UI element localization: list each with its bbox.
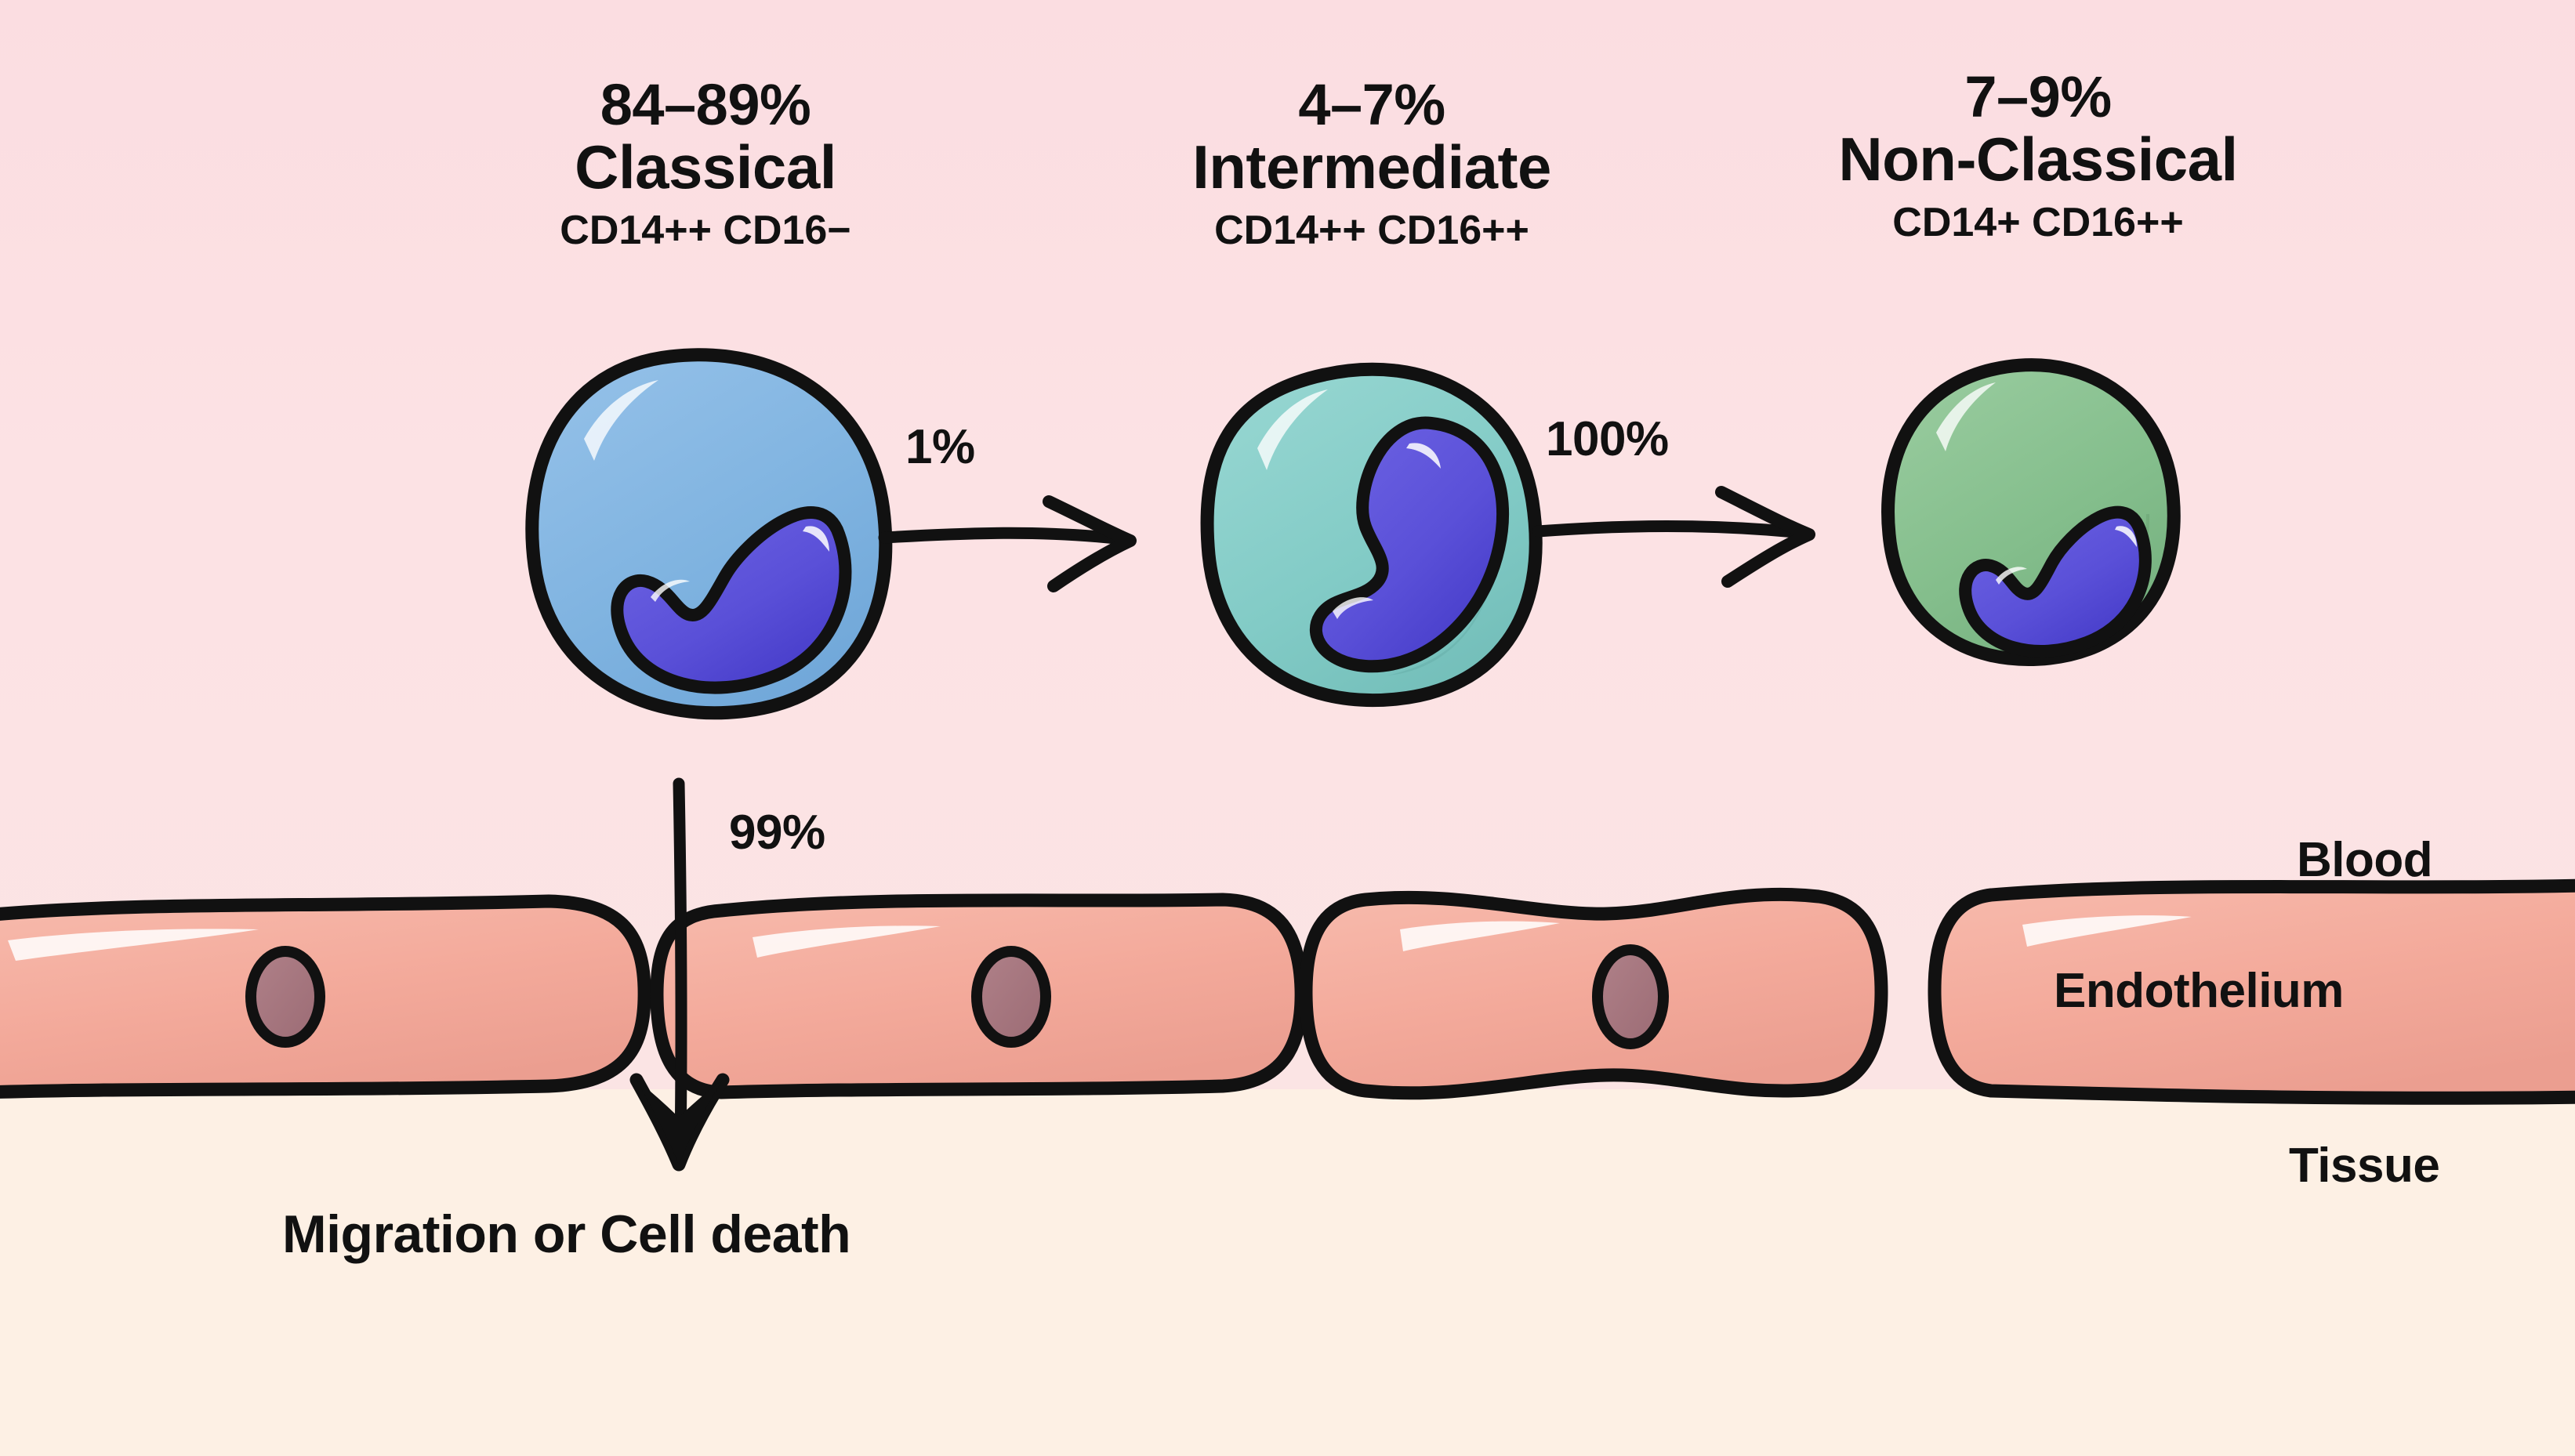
monocyte-name-nonclassical: Non-Classical — [1568, 128, 2508, 192]
migration-outcome-label: Migration or Cell death — [282, 1207, 850, 1262]
monocyte-nonclassical-illustration — [1888, 365, 2174, 660]
endothelium-cell-2 — [657, 900, 1301, 1092]
endothelium-nucleus-3 — [1598, 950, 1663, 1044]
migration-label-99pct: 99% — [729, 807, 825, 858]
region-label-tissue: Tissue — [2289, 1140, 2439, 1191]
transition-label-100pct: 100% — [1546, 414, 1669, 465]
endothelium-nucleus-2 — [977, 951, 1046, 1042]
endothelium-cell-1 — [0, 901, 644, 1092]
monocyte-markers-nonclassical: CD14+ CD16++ — [1568, 201, 2508, 244]
endothelium-nucleus-1 — [251, 951, 320, 1042]
monocyte-percent-nonclassical: 7–9% — [1568, 67, 2508, 128]
region-label-blood: Blood — [2297, 835, 2432, 886]
tissue-region-background — [0, 1089, 2575, 1456]
diagram-canvas: 84–89% Classical CD14++ CD16− 4–7% Inter… — [0, 0, 2575, 1456]
endothelium-cell-3 — [1306, 894, 1881, 1093]
region-label-endothelium: Endothelium — [2054, 965, 2344, 1016]
monocyte-label-nonclassical: 7–9% Non-Classical CD14+ CD16++ — [1568, 67, 2508, 244]
transition-label-1pct: 1% — [905, 422, 975, 473]
monocyte-intermediate-illustration — [1207, 369, 1536, 700]
monocyte-classical-illustration — [532, 355, 886, 713]
